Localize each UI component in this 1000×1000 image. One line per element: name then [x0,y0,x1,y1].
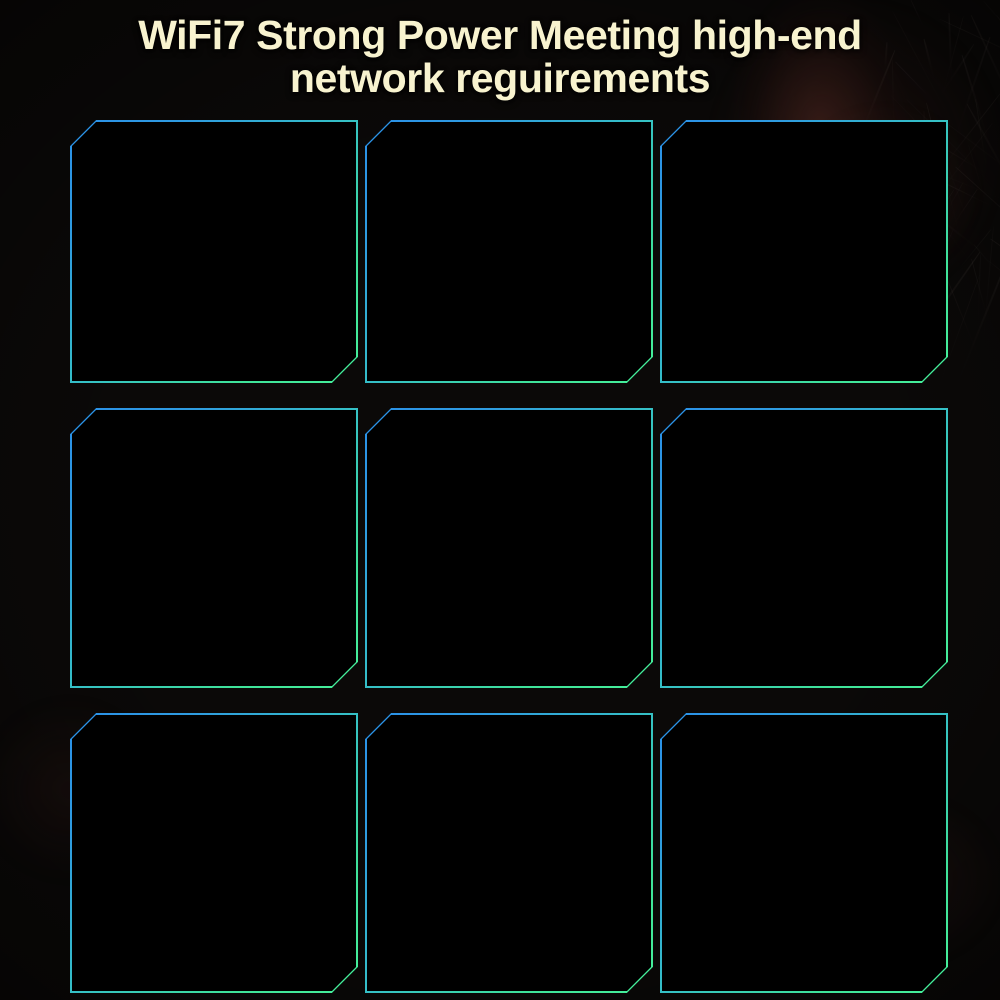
page-title: WiFi7 Strong Power Meeting high-end netw… [0,14,1000,101]
band-label-24ghz: 2.4GHZ [837,155,932,186]
product-badge: 7 [796,490,813,520]
usb-adapter-illustration: Driver Free BE6500 WiFi7 USB 7 [724,721,874,975]
usb-adapter-illustration: Driver Free BE6500 7 [749,432,859,669]
product-badge: 7 [206,209,223,239]
product-badge: 7 [733,157,750,187]
card-artwork-dual-antennas: Driver Free BE6500 7 [662,410,946,686]
card-caption-new-wifi7-technology: New WiFi7 Technology [70,351,358,383]
card-caption-be6500-high-speed: BE6500 High speed [365,351,653,383]
band-label-58ghz: 5.8GHZ [837,219,932,250]
card-artwork-bandwidth [72,715,356,991]
usb-port-top [452,416,482,458]
feature-card-dual-antennas[interactable]: Driver Free BE6500 7 Dual Antennas [660,408,948,688]
usb-adapter-illustration: BE6500 7 [702,122,782,350]
usb-adapter-illustration [537,465,651,537]
card-caption-usb30-high-speed: USB3.0 High-speed [365,656,653,688]
feature-card-new-wifi7-technology[interactable]: WiFi 7 BE6500 WiFi7 7 [70,120,358,383]
feature-card-save-electricity[interactable]: Driver Free BE6500 WiFi7 USB 7 Save Elec… [660,713,948,993]
race-car-illustration [412,215,611,334]
usb-adapter-illustration: BE6500 WiFi7 Driver Free BE [78,520,228,658]
card-caption-low-latency-high-throughput: Low Latencyand High Throughput [365,948,653,993]
product-badge: 7 [779,805,796,835]
card-artwork-multi-band: 2.4GHZ 5.8GHZ 6GHZ BE6500 7 [662,122,946,381]
feature-card-driver-free[interactable]: BE6500 WiFi7 Driver Free BE Driver Free [70,408,358,688]
product-badge: BE [109,526,135,544]
card-artwork-race-car [367,122,651,381]
card-caption-save-electricity: Save Electricity and EnergyConsumption [660,948,948,993]
usb-port-bottom [452,570,482,612]
wifi-signal-top-right [558,726,628,786]
card-artwork-driver-free: BE6500 WiFi7 Driver Free BE [72,410,356,686]
page-title-line-2: network reguirements [0,57,1000,100]
card-artwork-usb30 [367,410,651,686]
wifi-signal-left [395,814,465,874]
card-caption-dual-antennas: Dual Antennas [660,656,948,688]
card-caption-driver-free: Driver Free [70,656,358,688]
page-title-line-1: WiFi7 Strong Power Meeting high-end [138,12,862,58]
usb-adapter-illustration: BE6500 WiFi7 7 [164,163,264,365]
card-caption-320mhz-wide-bandwidth: 320MHz Wide Bandwidth [70,961,358,993]
feature-card-support-multi-band[interactable]: 2.4GHZ 5.8GHZ 6GHZ BE6500 7 Support [660,120,948,383]
band-label-group: 2.4GHZ 5.8GHZ 6GHZ [776,148,935,334]
feature-card-be6500-high-speed[interactable]: BE6500 High speed [365,120,653,383]
feature-card-low-latency-high-throughput[interactable]: Low Latencyand High Throughput [365,713,653,993]
band-label-6ghz: 6GHZ [844,282,916,313]
card-artwork-wifi7: WiFi 7 BE6500 WiFi7 7 [72,122,356,381]
card-caption-support-multi-band: Support Multi-Band [660,351,948,383]
feature-card-grid: WiFi 7 BE6500 WiFi7 7 [70,120,948,982]
feature-card-usb30-high-speed[interactable]: USB3.0 High-speed [365,408,653,688]
feature-card-320mhz-wide-bandwidth[interactable]: 320MHz Wide Bandwidth [70,713,358,993]
